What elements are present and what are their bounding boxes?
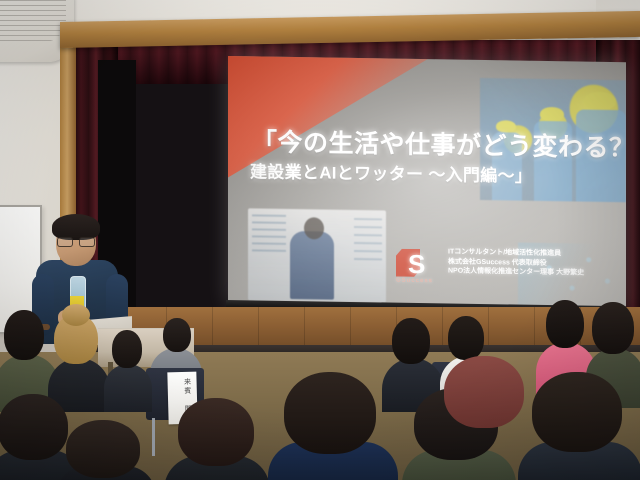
person-head [532,372,622,452]
person-head [163,318,191,352]
slide-credit-block: ITコンサルタント/地域活性化推進員 株式会社GSuccess 代表取締役 NP… [448,247,626,278]
audience-person [518,372,640,480]
audience-person [164,398,268,480]
person-head [4,310,44,360]
audience-person [104,330,150,410]
person-head [546,300,584,348]
photo-person-head [304,217,324,239]
photo-person-body [290,231,334,300]
hard-hat-icon [584,92,616,111]
person-head [392,318,430,364]
audience-person [56,420,154,480]
slide-subtitle: 建設業とAIとワッター ～入門編～」 [250,157,626,188]
vent-louvers [0,0,66,42]
person-head [112,330,142,368]
presentation-screen-photo [248,208,386,302]
person-head [66,420,140,478]
person-head [444,356,524,428]
person-head [284,372,376,454]
logo-wordmark: GSuccess [396,278,448,285]
logo-letter: S [408,250,438,278]
glasses-icon [57,236,95,245]
person-head [448,316,484,360]
credit-line-3: NPO法人情報化推進センター理事 大野繁史 [448,266,626,278]
projection-slide: 「今の生活や仕事がどう変わる？ 建設業とAIとワッター ～入門編～」 S GSu… [228,56,626,310]
photo-scene: 「今の生活や仕事がどう変わる？ 建設業とAIとワッター ～入門編～」 S GSu… [0,0,640,480]
person-head [592,302,634,354]
photo-text-lines [252,214,286,255]
person-head [178,398,254,466]
hair-bun [62,304,90,326]
audience-person [272,372,394,480]
hard-hat-icon [540,107,564,121]
photo-text-lines [354,218,382,264]
person-shoulders [104,364,152,412]
gsuccess-logo: S GSuccess [394,247,450,292]
